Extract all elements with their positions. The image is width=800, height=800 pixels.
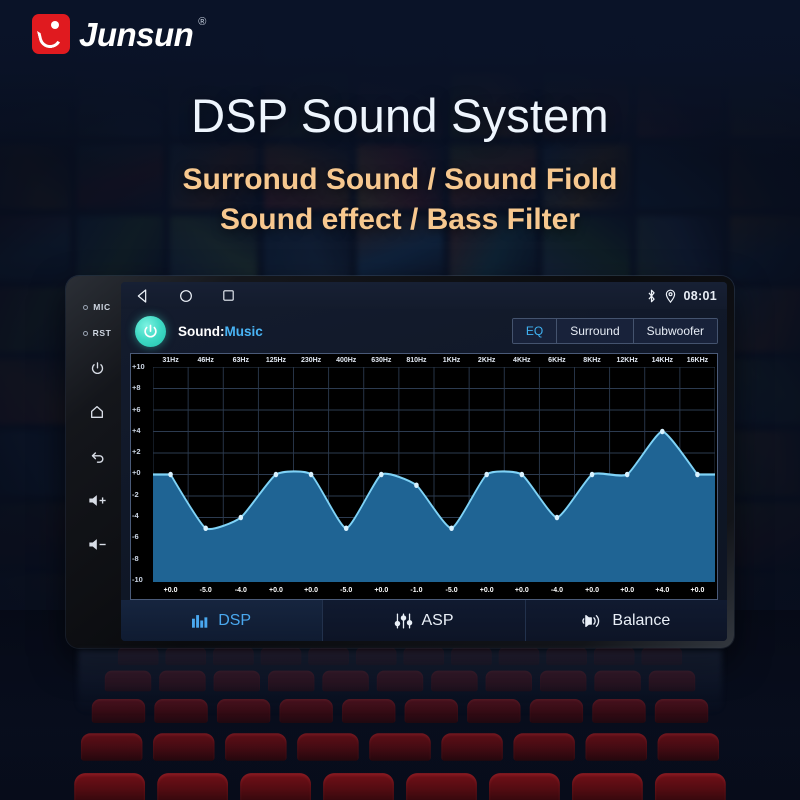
nav-home-icon[interactable]: [178, 288, 194, 304]
chart-frequency-tick: 46Hz: [188, 355, 223, 367]
chart-y-axis: +10+8+6+4+2+0-2-4-6-8-10: [132, 363, 154, 584]
back-button[interactable]: [73, 434, 121, 478]
brand-logo: Junsun ®: [32, 14, 193, 56]
chart-frequency-tick: 12KHz: [610, 355, 645, 367]
chart-frequency-tick: 8KHz: [575, 355, 610, 367]
page-title: DSP Sound System: [0, 88, 800, 143]
mode-subwoofer-button[interactable]: Subwoofer: [634, 319, 717, 343]
equalizer-icon: [192, 613, 210, 628]
chart-band-value: +0.0: [504, 583, 539, 598]
equalizer-chart[interactable]: +10+8+6+4+2+0-2-4-6-8-10 31Hz46Hz63Hz125…: [130, 353, 718, 600]
equalizer-chart-wrap: +10+8+6+4+2+0-2-4-6-8-10 31Hz46Hz63Hz125…: [121, 353, 727, 600]
chart-band-value: +0.0: [258, 583, 293, 598]
chart-band-value: -4.0: [539, 583, 574, 598]
volume-down-icon: [88, 537, 107, 552]
back-arrow-icon: [89, 448, 106, 465]
tab-asp-label: ASP: [421, 612, 453, 630]
chart-band-value: +4.0: [645, 583, 680, 598]
power-button[interactable]: [73, 346, 121, 390]
sliders-icon: [394, 613, 413, 629]
sound-header-row: Sound:Music EQ Surround Subwoofer: [121, 309, 727, 353]
chart-y-tick: -2: [132, 491, 154, 499]
mic-label: MIC: [93, 302, 110, 312]
sound-label-value: Music: [225, 324, 263, 339]
status-clock: 08:01: [684, 289, 717, 303]
chart-frequency-tick: 14KHz: [645, 355, 680, 367]
nav-recents-icon[interactable]: [221, 288, 236, 303]
chart-frequency-labels: 31Hz46Hz63Hz125Hz230Hz400Hz630Hz810Hz1KH…: [153, 355, 715, 367]
home-icon: [89, 404, 105, 420]
volume-up-button[interactable]: [73, 478, 121, 522]
chart-band-value: +0.0: [680, 583, 715, 598]
chart-band-value: +0.0: [153, 583, 188, 598]
chart-band-value: +0.0: [469, 583, 504, 598]
chart-band-value: -5.0: [188, 583, 223, 598]
sound-source-label: Sound:Music: [178, 324, 263, 339]
power-icon: [90, 361, 105, 376]
reset-label: RST: [93, 328, 112, 338]
nav-back-icon[interactable]: [135, 288, 151, 304]
chart-frequency-tick: 16KHz: [680, 355, 715, 367]
chart-band-value: +0.0: [610, 583, 645, 598]
chart-value-labels: +0.0-5.0-4.0+0.0+0.0-5.0+0.0-1.0-5.0+0.0…: [153, 583, 715, 598]
chart-y-tick: +2: [132, 448, 154, 456]
mode-surround-button[interactable]: Surround: [557, 319, 633, 343]
chart-band-value: +0.0: [294, 583, 329, 598]
chart-frequency-tick: 1KHz: [434, 355, 469, 367]
brand-name: Junsun: [79, 16, 193, 53]
registered-mark: ®: [198, 16, 206, 28]
device-reflection: [78, 650, 722, 714]
chart-y-tick: -4: [132, 512, 154, 520]
chart-plot-area[interactable]: [153, 367, 715, 582]
logo-swoosh: [37, 26, 64, 51]
chart-frequency-tick: 810Hz: [399, 355, 434, 367]
chart-y-tick: +0: [132, 469, 154, 477]
bluetooth-icon: [646, 289, 657, 303]
chart-band-value: -5.0: [329, 583, 364, 598]
volume-up-icon: [88, 493, 107, 508]
chart-frequency-tick: 2KHz: [469, 355, 504, 367]
sound-label-prefix: Sound:: [178, 324, 225, 339]
chart-y-tick: -8: [132, 555, 154, 563]
mic-indicator-icon: [83, 305, 88, 310]
chart-y-tick: -10: [132, 576, 154, 584]
junsun-logo-icon: [32, 14, 70, 54]
sound-mode-group: EQ Surround Subwoofer: [512, 318, 718, 344]
subtitle-line-1: Surronud Sound / Sound Fiold: [0, 160, 800, 200]
chart-y-tick: +10: [132, 363, 154, 371]
chart-band-value: +0.0: [364, 583, 399, 598]
brand-wordmark: Junsun ®: [79, 14, 193, 56]
chart-eq-curve: [153, 367, 715, 582]
tab-balance-label: Balance: [612, 612, 670, 630]
chart-frequency-tick: 6KHz: [539, 355, 574, 367]
reset-button[interactable]: RST: [73, 320, 121, 346]
location-icon: [665, 289, 676, 303]
chart-y-tick: +4: [132, 427, 154, 435]
speaker-icon: [582, 613, 604, 629]
chart-y-tick: +6: [132, 406, 154, 414]
tab-asp[interactable]: ASP: [323, 600, 525, 641]
bottom-tab-bar: DSP ASP: [121, 600, 727, 641]
chart-frequency-tick: 125Hz: [258, 355, 293, 367]
chart-frequency-tick: 63Hz: [223, 355, 258, 367]
subtitle-line-2: Sound effect / Bass Filter: [0, 200, 800, 240]
chart-frequency-tick: 400Hz: [329, 355, 364, 367]
car-head-unit: MIC RST: [66, 276, 734, 648]
sound-power-toggle[interactable]: [135, 316, 166, 347]
device-side-rail: MIC RST: [73, 282, 121, 641]
mode-eq-button[interactable]: EQ: [513, 319, 557, 343]
reset-indicator-icon: [83, 331, 88, 336]
android-status-bar: 08:01: [121, 282, 727, 309]
chart-band-value: -5.0: [434, 583, 469, 598]
device-screen: 08:01 Sound:Music EQ Surround Subwoofer …: [121, 282, 727, 641]
tab-dsp[interactable]: DSP: [121, 600, 323, 641]
chart-frequency-tick: 4KHz: [504, 355, 539, 367]
mic-button[interactable]: MIC: [73, 294, 121, 320]
chart-frequency-tick: 230Hz: [294, 355, 329, 367]
tab-balance[interactable]: Balance: [526, 600, 727, 641]
chart-band-value: -4.0: [223, 583, 258, 598]
chart-band-value: +0.0: [575, 583, 610, 598]
power-icon: [142, 323, 159, 340]
home-button[interactable]: [73, 390, 121, 434]
status-system-icons: 08:01: [646, 289, 717, 303]
chart-band-value: -1.0: [399, 583, 434, 598]
page-subtitle: Surronud Sound / Sound Fiold Sound effec…: [0, 160, 800, 240]
android-nav-buttons: [135, 288, 236, 304]
tab-dsp-label: DSP: [218, 612, 251, 630]
chart-frequency-tick: 31Hz: [153, 355, 188, 367]
chart-frequency-tick: 630Hz: [364, 355, 399, 367]
volume-down-button[interactable]: [73, 522, 121, 566]
chart-y-tick: +8: [132, 384, 154, 392]
chart-y-tick: -6: [132, 533, 154, 541]
